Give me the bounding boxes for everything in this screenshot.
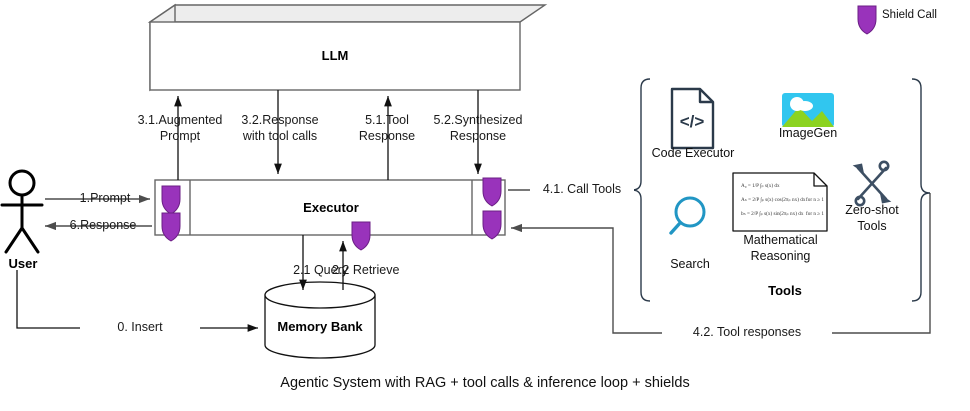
svg-text:for n ≥ 1: for n ≥ 1 [806, 196, 824, 203]
shield-icon [352, 222, 370, 250]
tools-group-label: Tools [740, 283, 830, 298]
diagram-caption: Agentic System with RAG + tool calls & i… [0, 375, 970, 391]
search-icon [671, 198, 704, 233]
edge-label-tool-response-l1: 5.1.Tool [344, 113, 430, 129]
code-executor-icon: </> [672, 89, 713, 148]
edge-label-synthesized-l1: 5.2.Synthesized [424, 113, 532, 129]
tool-label-code-executor: Code Executor [645, 146, 741, 161]
edge-label-augmented-prompt-l1: 3.1.Augmented [132, 113, 228, 129]
edge-label-tool-response-l2: Response [344, 129, 430, 145]
edge-label-insert: 0. Insert [80, 320, 200, 336]
edge-label-prompt: 1.Prompt [55, 191, 155, 207]
svg-text:A₀ = 1/P ∫ₚ s(x) dx: A₀ = 1/P ∫ₚ s(x) dx [741, 182, 780, 189]
edge-label-response: 6.Response [48, 218, 158, 234]
tool-label-mathematical-reasoning: Mathematical Reasoning [738, 233, 823, 264]
edge-label-tool-calls-l2: with tool calls [228, 129, 332, 145]
svg-text:Aₙ = 2/P ∫ₚ s(x) cos(2πₚ nx) d: Aₙ = 2/P ∫ₚ s(x) cos(2πₚ nx) dx [741, 196, 806, 203]
tool-label-imagegen: ImageGen [770, 126, 846, 141]
llm-title: LLM [150, 48, 520, 63]
crossed-wrenches-icon [856, 162, 888, 205]
memory-bank-title: Memory Bank [265, 319, 375, 334]
shield-icon [162, 213, 180, 241]
edge-label-retrieve: 2.2 Retrieve [332, 263, 422, 279]
edge-label-synthesized-l2: Response [424, 129, 532, 145]
tools-bracket-left [632, 79, 650, 301]
edge-label-call-tools: 4.1. Call Tools [530, 182, 634, 198]
executor-title: Executor [190, 200, 472, 215]
svg-text:for n ≥ 1: for n ≥ 1 [806, 210, 824, 217]
tool-label-search: Search [660, 257, 720, 272]
user-label: User [0, 256, 46, 271]
shield-icon [858, 6, 876, 34]
edge-label-augmented-prompt-l2: Prompt [132, 129, 228, 145]
svg-text:</>: </> [680, 112, 705, 131]
edge-label-tool-calls-l1: 3.2.Response [228, 113, 332, 129]
mathematical-reasoning-icon: A₀ = 1/P ∫ₚ s(x) dx Aₙ = 2/P ∫ₚ s(x) cos… [733, 173, 827, 231]
legend-label: Shield Call [882, 9, 937, 21]
tools-bracket-right [912, 79, 930, 301]
imagegen-icon [782, 93, 834, 127]
edge-label-tool-responses: 4.2. Tool responses [662, 325, 832, 341]
tool-label-zero-shot-tools: Zero-shot Tools [841, 203, 903, 234]
svg-text:bₙ = 2/P ∫ₚ s(x) sin(2πₚ nx) d: bₙ = 2/P ∫ₚ s(x) sin(2πₚ nx) dx [741, 210, 804, 217]
user-actor [2, 171, 42, 252]
